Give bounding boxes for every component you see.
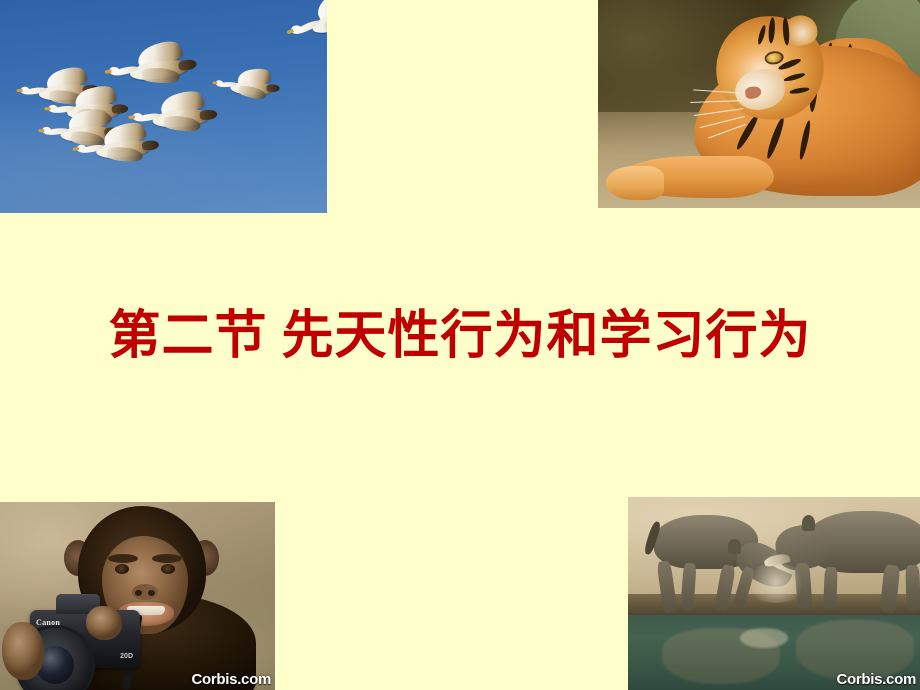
image-resting-tiger bbox=[598, 0, 920, 208]
chimp-scene: Canon 20D Corbis.com bbox=[0, 502, 275, 690]
tiger-muzzle bbox=[732, 66, 787, 113]
slide-canvas: 第二节 先天性行为和学习行为 Canon bbox=[0, 0, 920, 690]
chimp-nose bbox=[132, 584, 158, 600]
chimp-eye bbox=[115, 564, 129, 574]
chimp-hand bbox=[86, 606, 122, 640]
rhino-scene: Corbis.com bbox=[628, 497, 920, 690]
horn-reflection bbox=[740, 628, 788, 648]
corbis-watermark: Corbis.com bbox=[836, 671, 916, 688]
tiger-nose bbox=[744, 86, 762, 100]
image-fighting-rhinos: Corbis.com bbox=[628, 497, 920, 690]
image-flying-swans bbox=[0, 0, 327, 213]
dust-cloud bbox=[744, 563, 808, 603]
chimp-brow bbox=[152, 554, 182, 563]
image-chimpanzee-with-camera: Canon 20D Corbis.com bbox=[0, 502, 275, 690]
camera-model-label: 20D bbox=[120, 653, 133, 660]
tiger-eye bbox=[766, 52, 782, 63]
tiger-scene bbox=[598, 0, 920, 208]
chimp-eye bbox=[161, 564, 175, 574]
corbis-watermark: Corbis.com bbox=[191, 671, 271, 688]
camera-brand-label: Canon bbox=[36, 618, 60, 627]
chimp-hand bbox=[2, 622, 44, 680]
sky-background bbox=[0, 0, 327, 213]
tiger-paw bbox=[606, 166, 664, 200]
page-title: 第二节 先天性行为和学习行为 bbox=[0, 306, 920, 368]
chimp-brow bbox=[108, 554, 138, 563]
